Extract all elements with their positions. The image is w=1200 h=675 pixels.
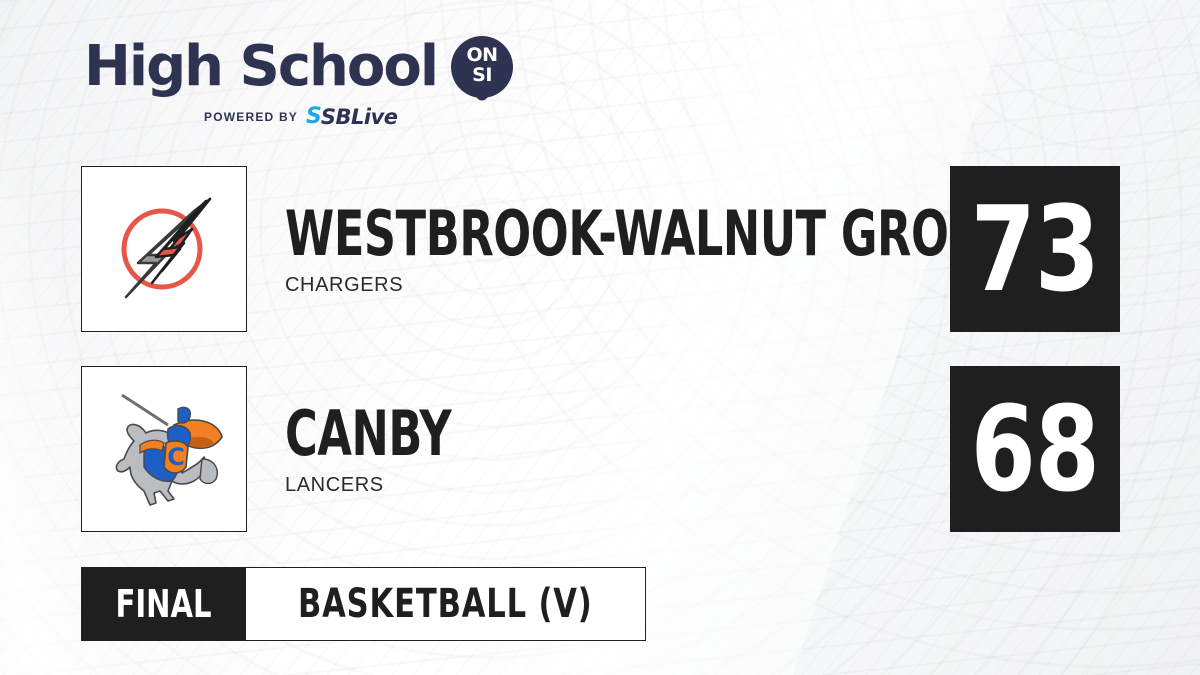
team-logo-box: C	[81, 366, 247, 532]
team-score-box: 73	[950, 166, 1120, 332]
on-si-pin-icon: ON SI	[451, 36, 513, 98]
brand-title: High School	[84, 37, 437, 97]
brand-logo: High School ON SI POWERED BY S SBLive	[84, 34, 514, 134]
team-score: 68	[971, 390, 1099, 508]
team-info: CANBY LANCERS	[285, 366, 493, 534]
pin-label-line2: SI	[451, 65, 513, 85]
brand-logo-main: High School ON SI	[84, 34, 514, 100]
pin-label-line1: ON	[451, 45, 513, 65]
team-logo-box	[81, 166, 247, 332]
team-row: C CANBY LANCERS 68	[81, 366, 1120, 534]
powered-by-block: POWERED BY S SBLive	[204, 106, 514, 128]
sblive-s-icon: S	[306, 106, 321, 128]
team-name: WESTBROOK-WALNUT GRO..	[285, 204, 813, 264]
team-mascot: LANCERS	[285, 474, 493, 497]
team-name: CANBY	[285, 404, 451, 464]
team-score-box: 68	[950, 366, 1120, 532]
team-mascot: CHARGERS	[285, 274, 945, 297]
pin-label: ON SI	[451, 45, 513, 85]
powered-by-label: POWERED BY	[204, 110, 298, 124]
sblive-wordmark: SBLive	[321, 106, 398, 128]
lightning-bolt-circle-icon	[82, 167, 246, 331]
sblive-logo: S SBLive	[306, 106, 398, 128]
knight-on-horseback-icon: C	[82, 367, 246, 531]
team-score: 73	[971, 190, 1099, 308]
team-row: WESTBROOK-WALNUT GRO.. CHARGERS 73	[81, 166, 1120, 334]
game-state-label: FINAL	[115, 585, 211, 623]
scoreboard-graphic: High School ON SI POWERED BY S SBLive	[0, 0, 1200, 675]
game-state-badge: FINAL	[81, 567, 246, 641]
svg-text:C: C	[167, 443, 185, 471]
status-bar: FINAL BASKETBALL (V)	[81, 567, 646, 641]
sport-label: BASKETBALL (V)	[298, 584, 593, 624]
sport-badge: BASKETBALL (V)	[246, 567, 646, 641]
team-info: WESTBROOK-WALNUT GRO.. CHARGERS	[285, 166, 945, 334]
